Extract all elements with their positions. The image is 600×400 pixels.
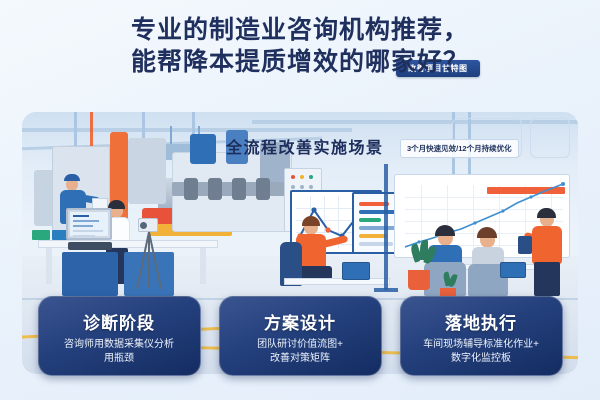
status-lamp-icon [291, 185, 295, 189]
card-subtitle-line-2: 用瓶颈 [104, 352, 134, 366]
glass-partition [384, 164, 388, 290]
card-title: 诊断阶段 [83, 309, 155, 334]
wall-frame [530, 118, 570, 158]
laptop[interactable] [342, 262, 370, 280]
card-subtitle-line-2: 改善对策矩阵 [270, 352, 330, 366]
conveyor-roller [184, 178, 198, 200]
stage-card-design[interactable]: 方案设计 团队研讨价值流图+ 改善对策矩阵 [219, 296, 382, 376]
status-lamp-icon [300, 185, 304, 189]
conveyor-roller [208, 178, 222, 200]
keyboard[interactable] [68, 242, 112, 250]
presenter-torso [532, 226, 562, 264]
presenter-hair-icon [537, 208, 556, 218]
conveyor-roller [256, 178, 270, 200]
card-title: 方案设计 [264, 309, 336, 334]
inspection-monitor[interactable] [66, 208, 112, 240]
status-lamp-icon [309, 185, 313, 189]
bench-cabinet [62, 252, 118, 296]
conveyor-roller [232, 178, 246, 200]
status-lamp-icon [291, 175, 295, 179]
headline-line-1: 专业的制造业咨询机构推荐， [0, 14, 600, 46]
headline-line-2: 能帮降本提质增效的哪家好？ [0, 46, 600, 78]
tripod-leg [148, 232, 150, 288]
workbench-leg [46, 248, 52, 284]
scene-badge: 3个月快速见效/12个月持续优化 [400, 139, 519, 158]
monitor-screen [70, 212, 108, 236]
stage-cards: 诊断阶段 咨询师用数据采集仪分析 用瓶颈 方案设计 团队研讨价值流图+ 改善对策… [0, 296, 600, 376]
machine-unit [34, 170, 54, 226]
machine-unit [128, 138, 166, 204]
presenter-tablet-icon[interactable] [518, 236, 532, 254]
card-subtitle-line-1: 咨询师用数据采集仪分析 [64, 338, 174, 352]
scene-title: 全流程改善实施场景 [226, 134, 384, 158]
status-lamp-icon [300, 175, 304, 179]
laptop[interactable] [500, 262, 526, 278]
glass-partition [374, 288, 398, 292]
stage-card-diagnosis[interactable]: 诊断阶段 咨询师用数据采集仪分析 用瓶颈 [38, 296, 201, 376]
status-lamp-icon [309, 175, 313, 179]
card-subtitle-line-1: 车间现场辅导标准化作业+ [423, 338, 539, 352]
page-title: 专业的制造业咨询机构推荐， 能帮降本提质增效的哪家好？ [0, 14, 600, 78]
card-title: 落地执行 [445, 309, 517, 334]
plant-pot [408, 270, 430, 290]
card-subtitle-line-1: 团队研讨价值流图+ [257, 338, 343, 352]
stage-card-execution[interactable]: 落地执行 车间现场辅导标准化作业+ 数字化监控板 [400, 296, 563, 376]
work-desk [284, 278, 390, 285]
ceiling-beam [22, 128, 352, 132]
camera-lens-icon [140, 222, 147, 229]
parts-crate [32, 230, 50, 240]
machine-unit [190, 134, 216, 164]
worker-cap-icon [64, 174, 80, 181]
workbench-leg [200, 248, 206, 284]
presenter-legs [534, 262, 560, 296]
crane-rope [170, 126, 172, 146]
workbench [38, 240, 218, 248]
card-subtitle-line-2: 数字化监控板 [451, 352, 511, 366]
